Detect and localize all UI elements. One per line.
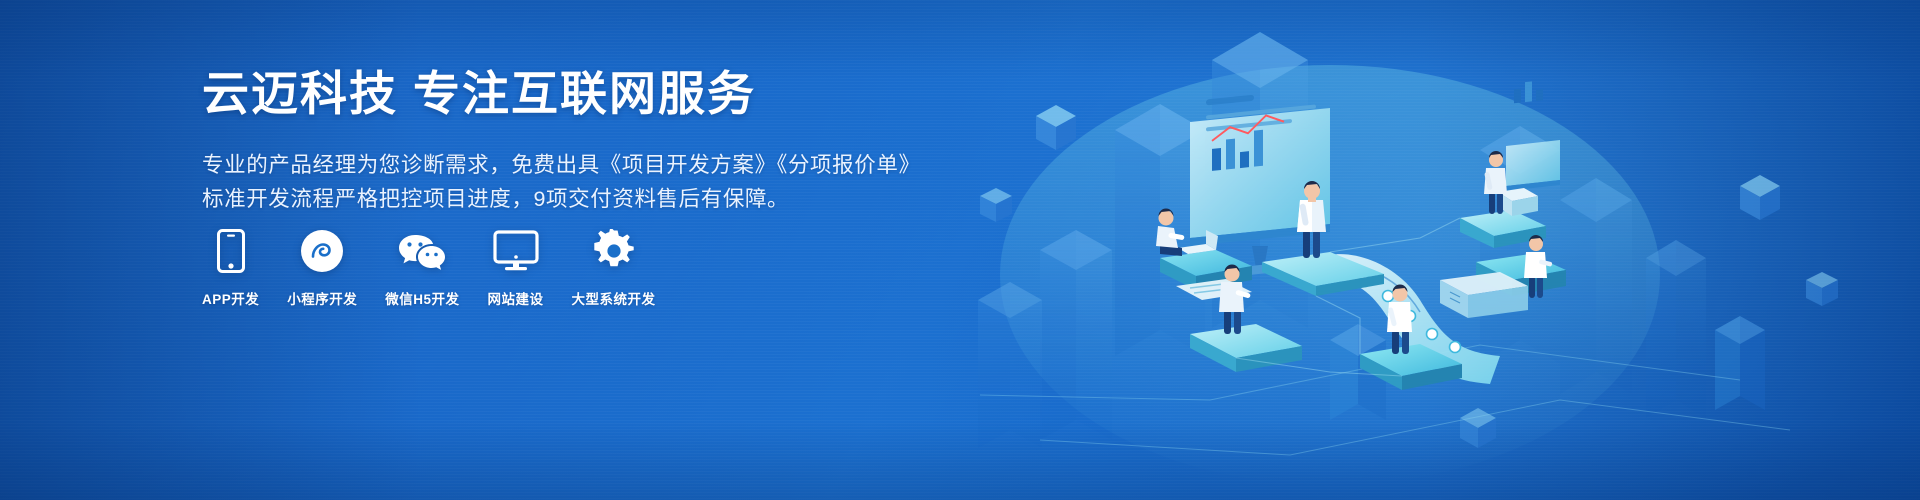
service-label: 大型系统开发	[572, 288, 656, 308]
service-label: 微信H5开发	[385, 288, 459, 308]
hero-banner: 云迈科技 专注互联网服务 专业的产品经理为您诊断需求，免费出具《项目开发方案》《…	[0, 0, 1920, 500]
banner-subtitle: 专业的产品经理为您诊断需求，免费出具《项目开发方案》《分项报价单》 标准开发流程…	[202, 148, 942, 216]
service-item-wechat-h5[interactable]: 微信H5开发	[385, 228, 459, 308]
subtitle-line-1: 专业的产品经理为您诊断需求，免费出具《项目开发方案》《分项报价单》	[202, 148, 942, 182]
smartphone-icon	[217, 228, 245, 274]
page-title: 云迈科技 专注互联网服务	[202, 66, 942, 122]
service-label: 小程序开发	[287, 288, 357, 308]
service-item-mini-program[interactable]: 小程序开发	[287, 228, 357, 308]
wechat-icon	[397, 228, 447, 274]
service-label: 网站建设	[488, 288, 544, 308]
mini-program-icon	[300, 228, 344, 274]
monitor-icon	[493, 228, 539, 274]
banner-copy: 云迈科技 专注互联网服务 专业的产品经理为您诊断需求，免费出具《项目开发方案》《…	[202, 66, 942, 216]
subtitle-line-2: 标准开发流程严格把控项目进度，9项交付资料售后有保障。	[202, 182, 942, 216]
illustration-isometric-tech-team	[860, 0, 1920, 500]
service-list: APP开发 小程序开发	[202, 228, 656, 308]
service-item-large-system[interactable]: 大型系统开发	[572, 228, 656, 308]
service-label: APP开发	[202, 288, 259, 308]
service-item-app[interactable]: APP开发	[202, 228, 259, 308]
gear-icon	[592, 228, 636, 274]
service-item-website[interactable]: 网站建设	[488, 228, 544, 308]
